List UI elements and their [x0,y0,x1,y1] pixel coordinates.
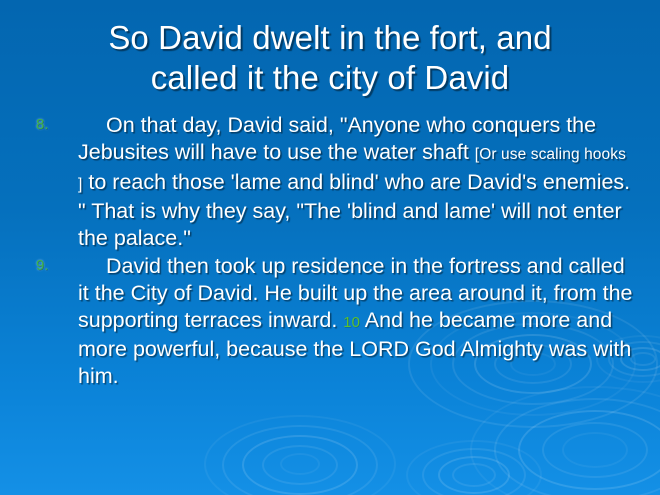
slide-body: 8.On that day, David said, "Anyone who c… [28,112,633,391]
verse-number-10: 10 [343,314,360,331]
list-item: 8.On that day, David said, "Anyone who c… [28,112,633,252]
slide-title: So David dwelt in the fort, and called i… [30,18,630,98]
paragraph-text-8b: to reach those 'lame and blind' who are … [78,170,630,251]
list-marker-9: 9. [36,256,70,276]
translator-note-label: Or [479,146,501,163]
list-item: 9.David then took up residence in the fo… [28,253,633,390]
translator-note-italic: use scaling hooks [501,146,626,163]
list-marker-8: 8. [36,115,70,135]
presentation-slide: So David dwelt in the fort, and called i… [0,0,660,495]
